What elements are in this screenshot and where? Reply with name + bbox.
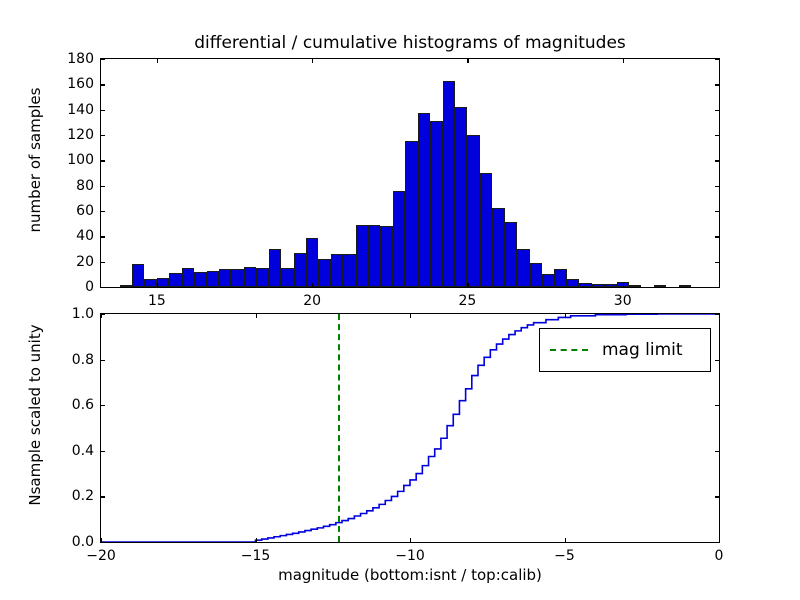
tick-mark bbox=[101, 496, 105, 497]
figure-canvas: differential / cumulative histograms of … bbox=[0, 0, 800, 600]
histogram-bar bbox=[629, 285, 641, 287]
tick-mark bbox=[715, 451, 719, 452]
histogram-bar bbox=[542, 274, 554, 287]
tick-mark bbox=[715, 236, 719, 237]
bottom-ytick-label: 0.0 bbox=[72, 534, 94, 550]
top-ytick-label: 160 bbox=[67, 76, 94, 92]
histogram-bar bbox=[430, 121, 442, 287]
tick-mark bbox=[719, 314, 720, 318]
histogram-bar bbox=[517, 249, 529, 287]
tick-mark bbox=[410, 314, 411, 318]
tick-mark bbox=[101, 542, 105, 543]
histogram-bar bbox=[269, 249, 281, 287]
bottom-xtick-label: −5 bbox=[554, 548, 575, 564]
tick-mark bbox=[715, 496, 719, 497]
histogram-bar bbox=[654, 285, 666, 287]
cumulative-histogram-axes: mag limit bbox=[100, 313, 720, 543]
bottom-ytick-label: 0.2 bbox=[72, 488, 94, 504]
tick-mark bbox=[715, 160, 719, 161]
histogram-bar bbox=[219, 269, 231, 287]
top-xtick-label: 30 bbox=[614, 293, 632, 309]
histogram-bar bbox=[679, 285, 691, 287]
histogram-bar bbox=[455, 107, 467, 287]
histogram-bar bbox=[157, 278, 169, 287]
histogram-bar bbox=[380, 226, 392, 287]
tick-mark bbox=[410, 538, 411, 542]
tick-mark bbox=[101, 211, 105, 212]
histogram-bar bbox=[318, 259, 330, 287]
top-chart-ylabel: number of samples bbox=[26, 45, 44, 275]
tick-mark bbox=[256, 314, 257, 318]
tick-mark bbox=[101, 314, 102, 318]
tick-mark bbox=[101, 262, 105, 263]
tick-mark bbox=[157, 59, 158, 63]
histogram-bar bbox=[405, 141, 417, 287]
tick-mark bbox=[101, 135, 105, 136]
top-ytick-label: 60 bbox=[76, 203, 94, 219]
tick-mark bbox=[623, 283, 624, 287]
tick-mark bbox=[312, 59, 313, 63]
bottom-chart-xlabel: magnitude (bottom:isnt / top:calib) bbox=[100, 566, 720, 584]
tick-mark bbox=[467, 283, 468, 287]
bottom-ytick-label: 0.8 bbox=[72, 352, 94, 368]
tick-mark bbox=[715, 186, 719, 187]
tick-mark bbox=[256, 538, 257, 542]
histogram-bar bbox=[244, 267, 256, 287]
top-xtick-label: 20 bbox=[303, 293, 321, 309]
tick-mark bbox=[715, 110, 719, 111]
histogram-bar bbox=[567, 279, 579, 287]
tick-mark bbox=[101, 186, 105, 187]
top-ytick-label: 0 bbox=[85, 279, 94, 295]
histogram-bar bbox=[207, 271, 219, 287]
tick-mark bbox=[715, 211, 719, 212]
top-ytick-label: 20 bbox=[76, 254, 94, 270]
top-ytick-label: 80 bbox=[76, 178, 94, 194]
histogram-bar bbox=[343, 254, 355, 287]
top-ytick-label: 120 bbox=[67, 127, 94, 143]
differential-histogram-axes bbox=[100, 58, 720, 288]
histogram-bar bbox=[443, 81, 455, 287]
top-ytick-label: 100 bbox=[67, 152, 94, 168]
tick-mark bbox=[101, 287, 105, 288]
tick-mark bbox=[101, 236, 105, 237]
tick-mark bbox=[715, 405, 719, 406]
tick-mark bbox=[715, 135, 719, 136]
tick-mark bbox=[715, 262, 719, 263]
tick-mark bbox=[101, 405, 105, 406]
bottom-ytick-label: 0.4 bbox=[72, 443, 94, 459]
histogram-bar bbox=[592, 284, 604, 287]
tick-mark bbox=[157, 283, 158, 287]
bottom-xtick-label: −20 bbox=[86, 548, 116, 564]
tick-mark bbox=[101, 110, 105, 111]
histogram-bar bbox=[368, 225, 380, 287]
tick-mark bbox=[623, 59, 624, 63]
tick-mark bbox=[467, 59, 468, 63]
histogram-bar bbox=[579, 283, 591, 287]
histogram-bar bbox=[331, 254, 343, 287]
histogram-bar bbox=[231, 269, 243, 287]
histogram-bar bbox=[530, 263, 542, 287]
histogram-bar bbox=[554, 269, 566, 287]
tick-mark bbox=[715, 542, 719, 543]
histogram-bar bbox=[306, 238, 318, 287]
tick-mark bbox=[312, 283, 313, 287]
tick-mark bbox=[565, 538, 566, 542]
histogram-bar bbox=[144, 279, 156, 287]
bottom-xtick-label: −15 bbox=[241, 548, 271, 564]
top-ytick-label: 40 bbox=[76, 228, 94, 244]
mag-limit-line-icon bbox=[550, 349, 588, 351]
tick-mark bbox=[101, 360, 105, 361]
bottom-xtick-label: 0 bbox=[715, 548, 724, 564]
histogram-bar bbox=[356, 225, 368, 287]
histogram-bar bbox=[182, 268, 194, 287]
histogram-bar bbox=[492, 208, 504, 287]
histogram-bar bbox=[294, 253, 306, 287]
histogram-bar bbox=[418, 113, 430, 287]
histogram-bar bbox=[169, 273, 181, 287]
histogram-bar bbox=[120, 285, 132, 287]
legend-label-mag-limit: mag limit bbox=[602, 340, 683, 360]
histogram-bar bbox=[256, 268, 268, 287]
histogram-bar bbox=[505, 222, 517, 287]
tick-mark bbox=[101, 160, 105, 161]
histogram-bar bbox=[132, 264, 144, 287]
tick-mark bbox=[101, 451, 105, 452]
tick-mark bbox=[715, 59, 719, 60]
histogram-bar bbox=[194, 272, 206, 287]
tick-mark bbox=[101, 84, 105, 85]
tick-mark bbox=[101, 538, 102, 542]
histogram-bar bbox=[393, 191, 405, 287]
tick-mark bbox=[715, 287, 719, 288]
tick-mark bbox=[565, 314, 566, 318]
bottom-chart-ylabel: Nsample scaled to unity bbox=[26, 300, 44, 530]
histogram-bar bbox=[281, 268, 293, 287]
tick-mark bbox=[719, 538, 720, 542]
histogram-bar bbox=[480, 173, 492, 287]
page-title: differential / cumulative histograms of … bbox=[100, 33, 720, 53]
histogram-bar bbox=[467, 135, 479, 287]
tick-mark bbox=[715, 360, 719, 361]
tick-mark bbox=[715, 84, 719, 85]
top-ytick-label: 180 bbox=[67, 51, 94, 67]
histogram-bar bbox=[604, 284, 616, 287]
bottom-xtick-label: −10 bbox=[395, 548, 425, 564]
bottom-ytick-label: 0.6 bbox=[72, 397, 94, 413]
top-xtick-label: 15 bbox=[148, 293, 166, 309]
top-xtick-label: 25 bbox=[459, 293, 477, 309]
legend[interactable]: mag limit bbox=[539, 328, 711, 372]
top-ytick-label: 140 bbox=[67, 102, 94, 118]
bottom-ytick-label: 1.0 bbox=[72, 306, 94, 322]
tick-mark bbox=[101, 59, 105, 60]
mag-limit-vline bbox=[338, 314, 340, 542]
